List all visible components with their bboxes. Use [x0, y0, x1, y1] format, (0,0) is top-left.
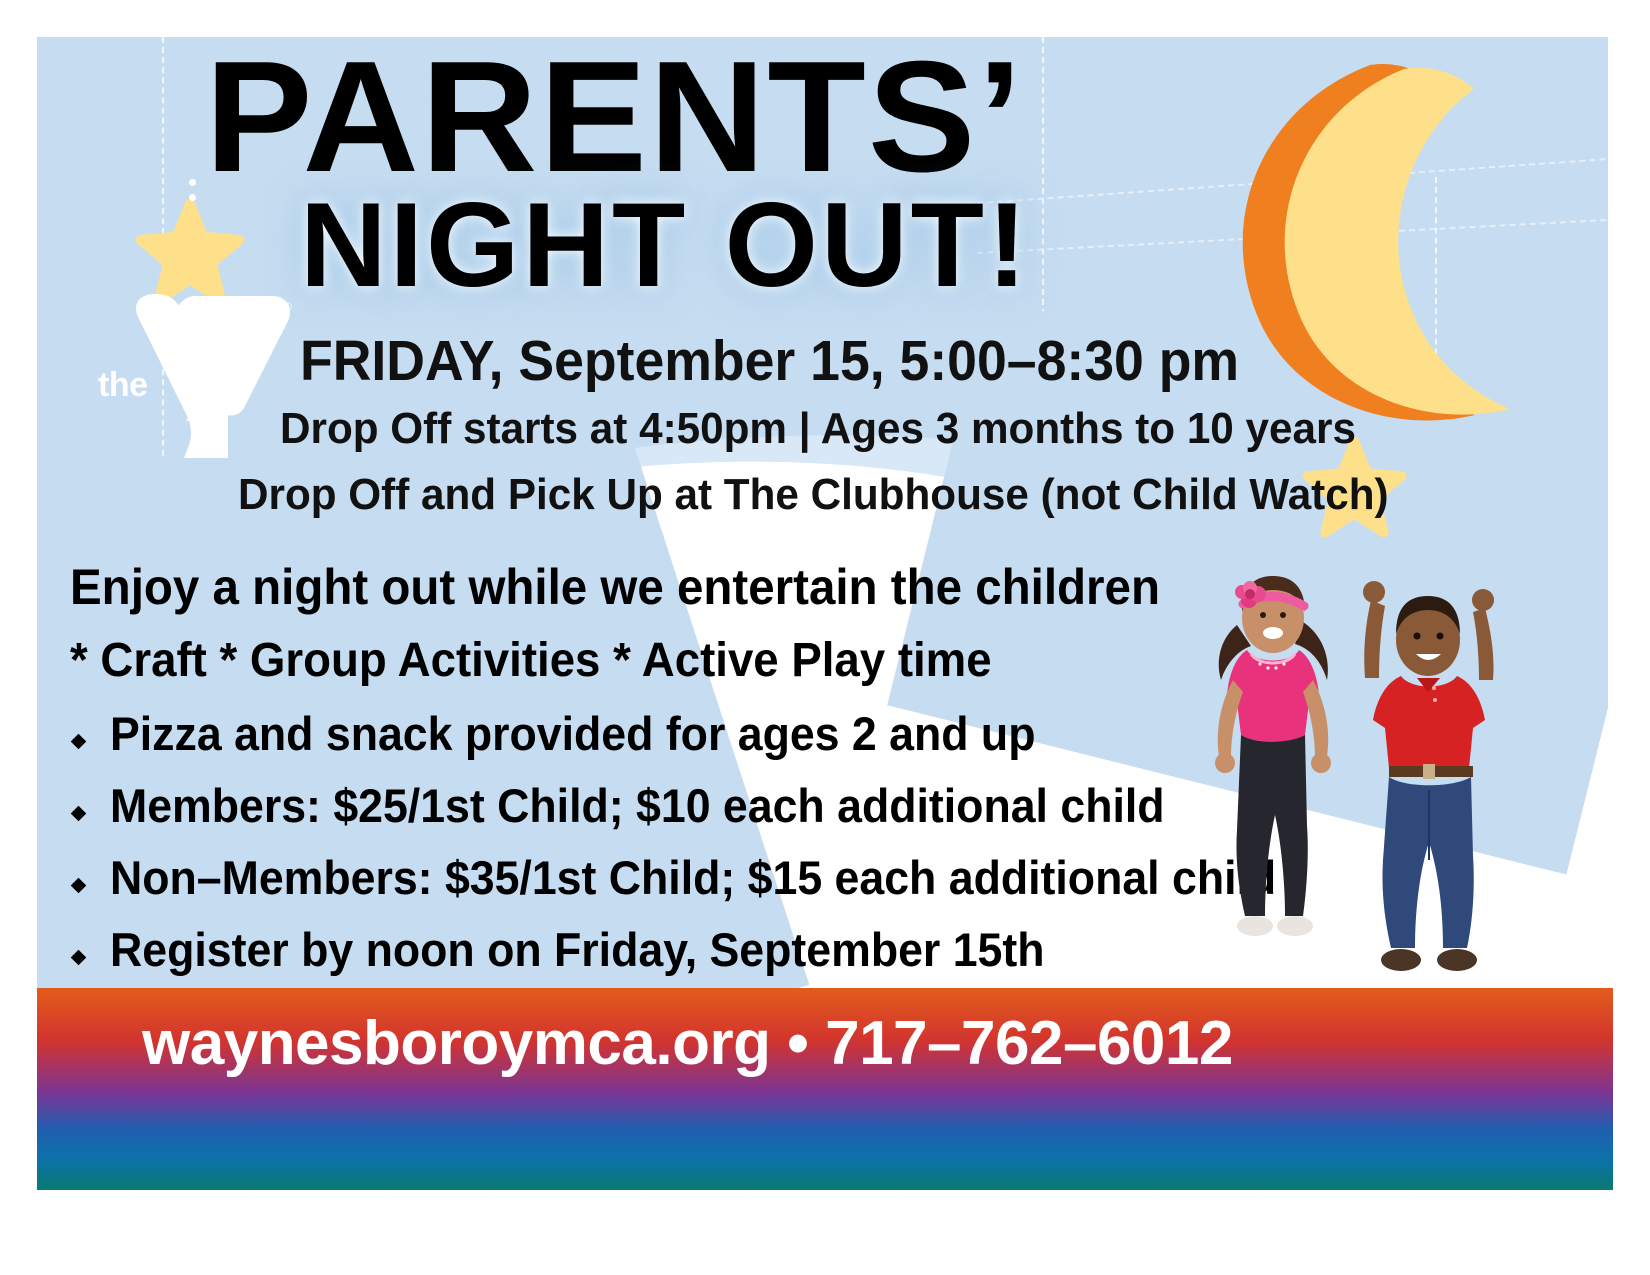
list-item-label: Register by noon on Friday, September 15…: [110, 922, 1045, 977]
bullet-diamond-icon: [71, 950, 87, 966]
registered-trademark-icon: ®: [283, 300, 292, 314]
flyer-canvas: the ® YMCA PARENTS’ NIGHT OUT! FRIDAY, S…: [0, 0, 1650, 1275]
footer-contact-text[interactable]: waynesboroymca.org • 717–762–6012: [142, 1008, 1233, 1079]
dropoff-ages-line: Drop Off starts at 4:50pm | Ages 3 month…: [280, 404, 1356, 454]
activities-text: * Craft * Group Activities * Active Play…: [70, 633, 992, 688]
list-item: Pizza and snack provided for ages 2 and …: [68, 706, 1268, 778]
list-item-label: Pizza and snack provided for ages 2 and …: [110, 706, 1035, 761]
jumping-children-photo: [1185, 530, 1515, 990]
boy-figure: [1363, 581, 1494, 971]
title-line-1: PARENTS’: [205, 38, 1024, 196]
lead-text: Enjoy a night out while we entertain the…: [70, 558, 1160, 616]
bullet-diamond-icon: [71, 878, 87, 894]
list-item: Members: $25/1st Child; $10 each additio…: [68, 778, 1268, 850]
event-date-line: FRIDAY, September 15, 5:00–8:30 pm: [300, 328, 1239, 394]
location-line: Drop Off and Pick Up at The Clubhouse (n…: [238, 470, 1389, 520]
girl-figure: [1215, 576, 1331, 936]
bullet-diamond-icon: [71, 734, 87, 750]
list-item: Non–Members: $35/1st Child; $15 each add…: [68, 850, 1268, 922]
bullet-diamond-icon: [71, 806, 87, 822]
list-item-label: Members: $25/1st Child; $10 each additio…: [110, 778, 1165, 833]
ymca-logo: the ® YMCA: [96, 288, 296, 463]
star-sparkle-dots: [189, 179, 196, 201]
list-item-label: Non–Members: $35/1st Child; $15 each add…: [110, 850, 1276, 905]
title-line-2: NIGHT OUT!: [300, 185, 1030, 305]
footer-contact-bar: waynesboroymca.org • 717–762–6012: [37, 988, 1613, 1190]
logo-the-label: the: [98, 366, 148, 405]
bullet-list: Pizza and snack provided for ages 2 and …: [68, 706, 1268, 994]
list-item: Register by noon on Friday, September 15…: [68, 922, 1268, 994]
